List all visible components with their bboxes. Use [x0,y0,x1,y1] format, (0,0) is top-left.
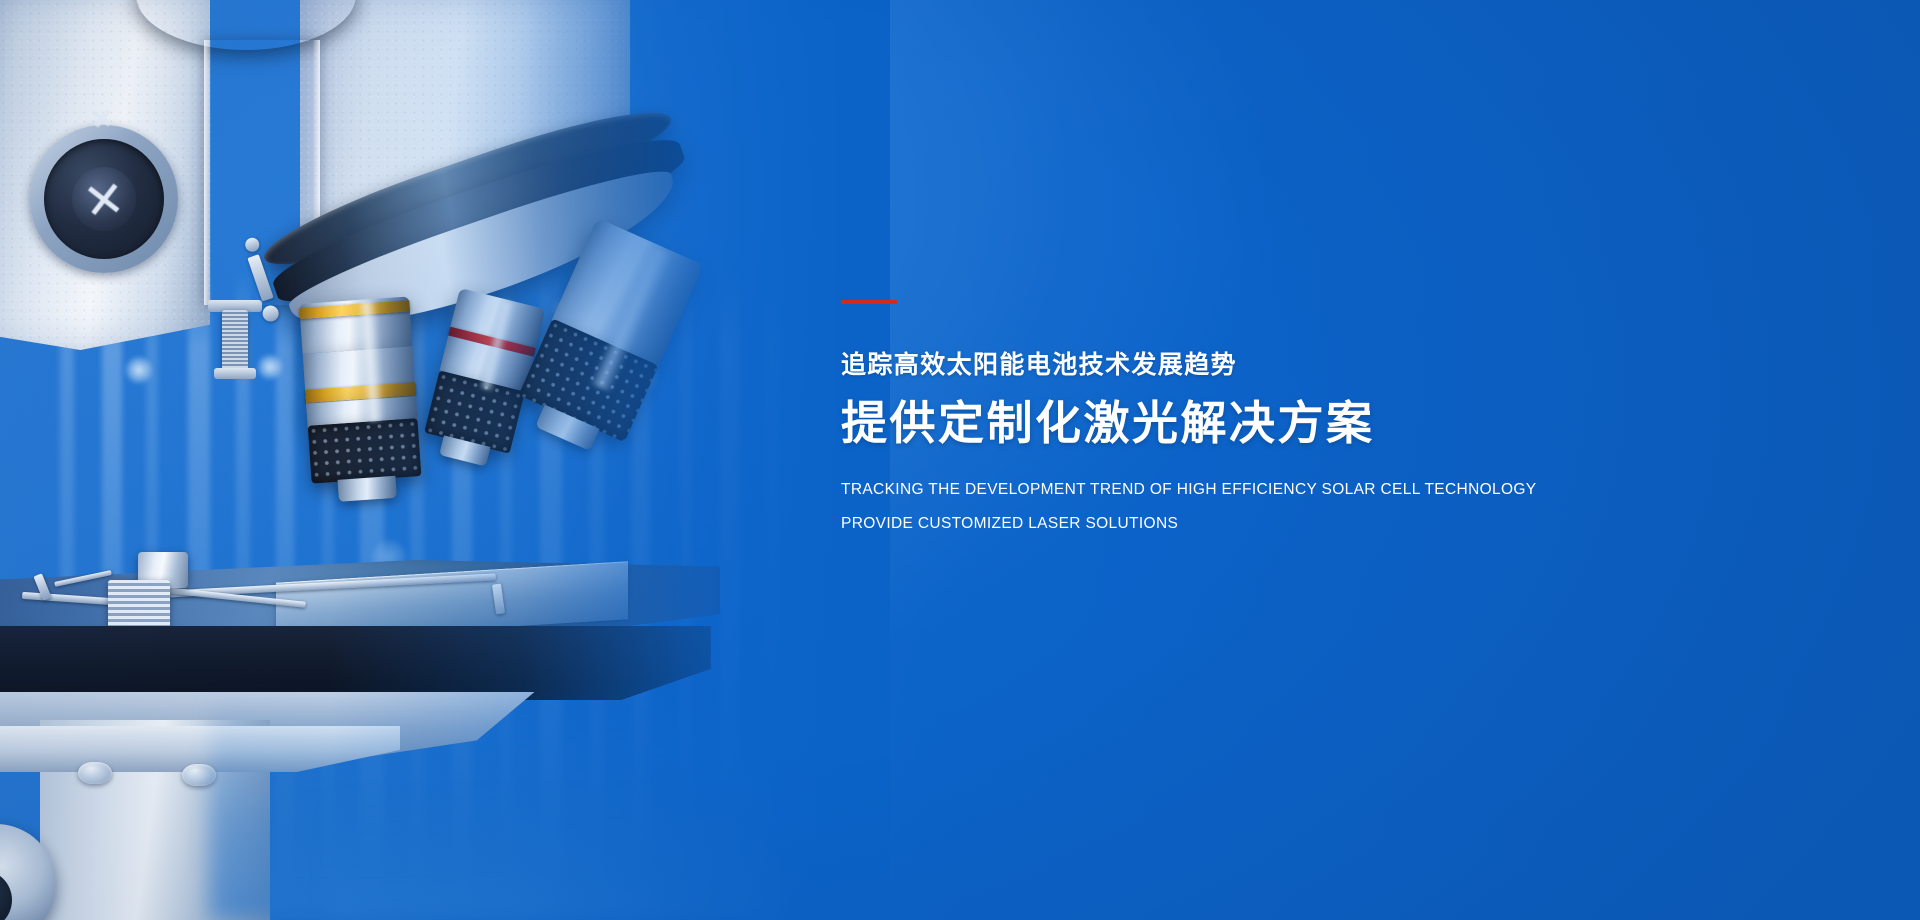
english-subtitle-block: TRACKING THE DEVELOPMENT TREND OF HIGH E… [841,480,1841,533]
headline-main-zh: 提供定制化激光解决方案 [841,396,1841,450]
hero-banner: 追踪高效太阳能电池技术发展趋势 提供定制化激光解决方案 TRACKING THE… [0,0,1920,920]
thumbscrew-shaft [222,310,248,370]
microscope-base [0,720,400,920]
accent-rule-divider [841,300,897,304]
english-subtitle-line-2: PROVIDE CUSTOMIZED LASER SOLUTIONS [841,514,1841,533]
headline-subtitle-zh: 追踪高效太阳能电池技术发展趋势 [841,350,1841,380]
thumbscrew-foot [214,368,256,379]
objective-lens-yellow [299,296,423,503]
microscope-illustration [0,0,790,920]
objective-grip-texture [308,418,422,484]
english-subtitle-line-1: TRACKING THE DEVELOPMENT TREND OF HIGH E… [841,480,1841,499]
hero-content: 追踪高效太阳能电池技术发展趋势 提供定制化激光解决方案 TRACKING THE… [841,300,1841,533]
